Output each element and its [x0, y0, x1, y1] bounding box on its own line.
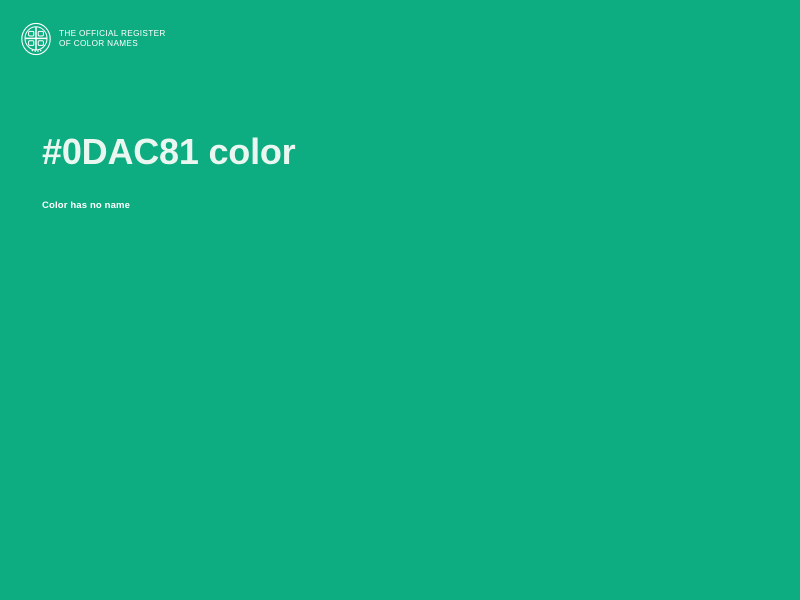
color-name-status: Color has no name — [42, 176, 742, 211]
brand-lockup[interactable]: THE OFFICIAL REGISTER OF COLOR NAMES — [20, 22, 166, 56]
official-register-seal-icon — [20, 22, 52, 56]
page-title: #0DAC81 color — [42, 128, 742, 176]
brand-wordmark-line-1: THE OFFICIAL REGISTER — [59, 29, 166, 39]
color-info-block: #0DAC81 color Color has no name — [42, 128, 742, 211]
brand-wordmark: THE OFFICIAL REGISTER OF COLOR NAMES — [59, 29, 166, 48]
brand-wordmark-line-2: OF COLOR NAMES — [59, 39, 166, 49]
color-page: THE OFFICIAL REGISTER OF COLOR NAMES #0D… — [0, 0, 800, 600]
